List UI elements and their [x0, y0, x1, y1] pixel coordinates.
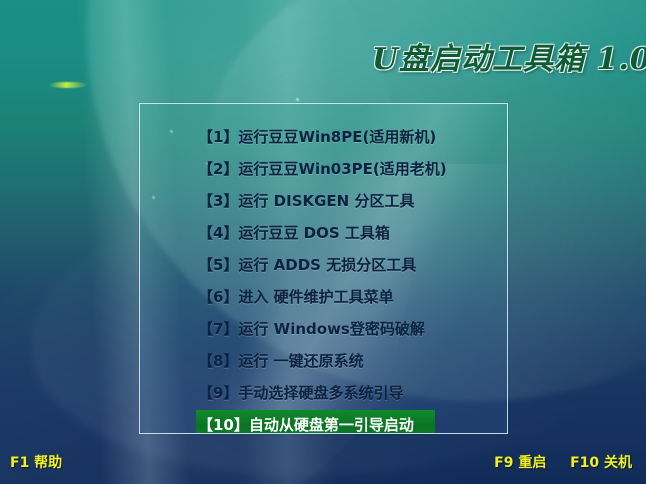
power-hints: F9 重启 F10 关机 — [494, 452, 632, 472]
menu-item-6[interactable]: 【6】进入 硬件维护工具菜单 — [140, 282, 507, 312]
wallpaper-spark — [48, 82, 88, 88]
boot-menu-screen: U盘启动工具箱 1.0 【1】运行豆豆Win8PE(适用新机) 【2】运行豆豆W… — [0, 0, 646, 484]
menu-item-1[interactable]: 【1】运行豆豆Win8PE(适用新机) — [140, 122, 507, 152]
shutdown-hint: F10 关机 — [570, 455, 632, 471]
menu-item-4[interactable]: 【4】运行豆豆 DOS 工具箱 — [140, 218, 507, 248]
menu-item-9[interactable]: 【9】手动选择硬盘多系统引导 — [140, 378, 507, 408]
boot-menu-list: 【1】运行豆豆Win8PE(适用新机) 【2】运行豆豆Win03PE(适用老机)… — [140, 104, 507, 434]
menu-panel: 【1】运行豆豆Win8PE(适用新机) 【2】运行豆豆Win03PE(适用老机)… — [139, 103, 508, 434]
menu-item-5[interactable]: 【5】运行 ADDS 无损分区工具 — [140, 250, 507, 280]
menu-item-7[interactable]: 【7】运行 Windows登密码破解 — [140, 314, 507, 344]
menu-item-2[interactable]: 【2】运行豆豆Win03PE(适用老机) — [140, 154, 507, 184]
menu-item-8[interactable]: 【8】运行 一键还原系统 — [140, 346, 507, 376]
wallpaper-dot-4 — [296, 98, 299, 101]
restart-hint: F9 重启 — [494, 455, 546, 471]
page-title: U盘启动工具箱 1.0 — [372, 34, 646, 78]
menu-item-3[interactable]: 【3】运行 DISKGEN 分区工具 — [140, 186, 507, 216]
help-hint: F1 帮助 — [10, 452, 62, 472]
menu-item-10[interactable]: 【10】自动从硬盘第一引导启动 — [196, 410, 435, 434]
